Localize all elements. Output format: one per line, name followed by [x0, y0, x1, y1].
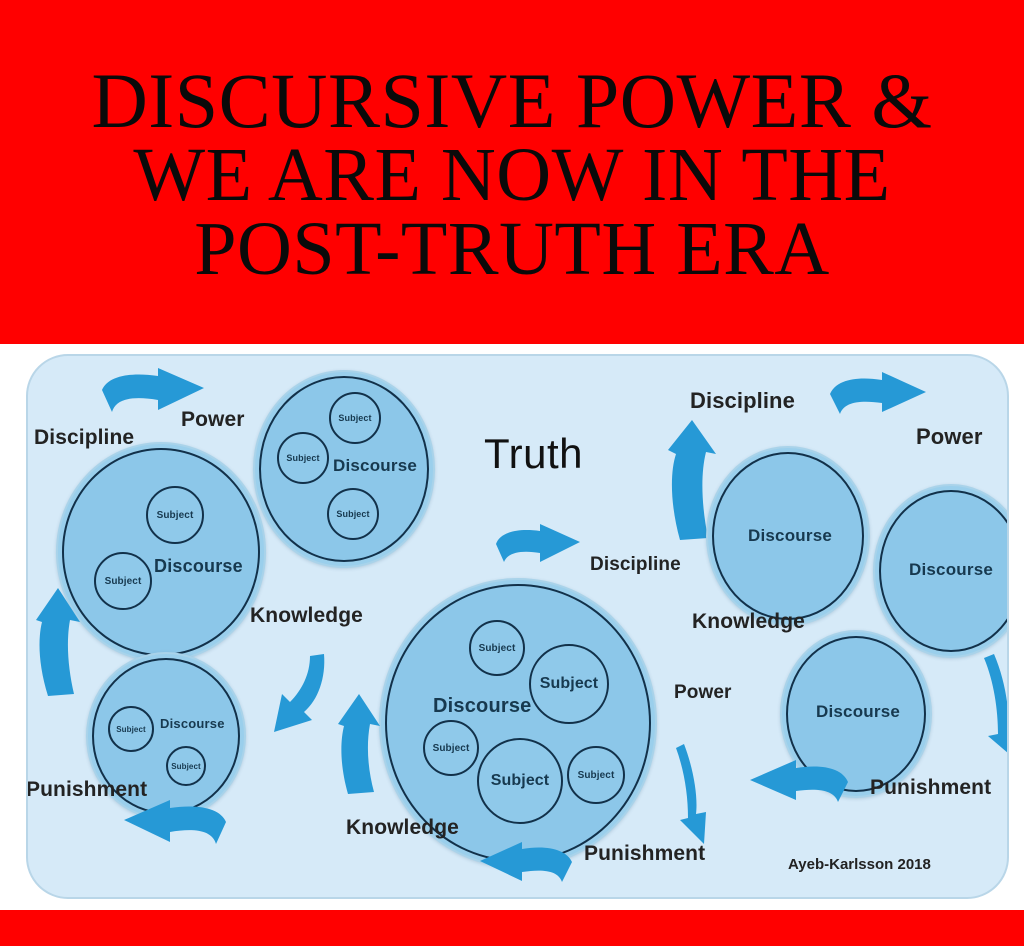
node-left-lower-label: Discourse [160, 716, 225, 731]
subject-label: Subject [336, 509, 369, 519]
subject-circle: Subject [567, 746, 625, 804]
node-right-upper-right: Discourse [873, 484, 1009, 658]
foucault-discourse-diagram: Discipline Power Discourse Subject Subje… [26, 354, 1009, 899]
subject-label: Subject [491, 772, 550, 790]
left-cycle-punishment-label: Punishment [26, 778, 147, 802]
right-cycle-punishment-label: Punishment [870, 776, 991, 800]
subject-circle: Subject [529, 644, 609, 724]
subject-label: Subject [540, 675, 599, 693]
node-right-upper-left: Discourse [706, 446, 870, 626]
node-left-upper: Discourse Subject Subject [56, 442, 266, 662]
left-cycle-power-label: Power [181, 408, 245, 432]
center-right-arrow-icon [668, 742, 722, 846]
subject-circle: Subject [329, 392, 381, 444]
right-cycle-discipline-label: Discipline [690, 388, 795, 414]
subject-circle: Subject [423, 720, 479, 776]
subject-label: Subject [171, 762, 201, 771]
right-bottom-arrow-icon [742, 760, 852, 810]
right-cycle-power-label: Power [916, 424, 983, 450]
left-inner-arrow-icon [266, 652, 330, 740]
subject-circle: Subject [94, 552, 152, 610]
subject-label: Subject [286, 453, 319, 463]
node-center-main-label: Discourse [433, 695, 532, 718]
center-cycle-discipline-label: Discipline [590, 554, 681, 576]
node-left-upper-inner [62, 448, 260, 656]
subject-label: Subject [433, 743, 470, 754]
poster-root: DISCURSIVE POWER & WE ARE NOW IN THE POS… [0, 0, 1024, 946]
right-cycle-knowledge-label: Knowledge [692, 610, 805, 634]
node-right-upper-left-label: Discourse [748, 526, 832, 546]
title-line-2: WE ARE NOW IN THE [133, 139, 890, 213]
title-banner: DISCURSIVE POWER & WE ARE NOW IN THE POS… [0, 0, 1024, 344]
subject-circle: Subject [477, 738, 563, 824]
node-right-lower-label: Discourse [816, 702, 900, 722]
subject-label: Subject [157, 510, 194, 521]
center-cycle-knowledge-label: Knowledge [346, 816, 459, 840]
subject-circle: Subject [469, 620, 525, 676]
figure-area: Discipline Power Discourse Subject Subje… [0, 344, 1024, 910]
right-top-arrow-icon [828, 372, 932, 422]
title-line-3: POST-TRUTH ERA [194, 213, 829, 287]
subject-circle: Subject [327, 488, 379, 540]
subject-label: Subject [116, 725, 146, 734]
subject-circle: Subject [166, 746, 206, 786]
subject-circle: Subject [146, 486, 204, 544]
left-bottom-arrow-icon [118, 800, 228, 852]
left-cycle-discipline-label: Discipline [34, 426, 134, 450]
title-line-1: DISCURSIVE POWER & [91, 63, 932, 139]
subject-label: Subject [479, 643, 516, 654]
center-bottom-arrow-icon [474, 842, 574, 890]
right-side-arrow-icon [978, 652, 1009, 762]
subject-label: Subject [338, 413, 371, 423]
credit-label: Ayeb-Karlsson 2018 [788, 856, 931, 873]
subject-label: Subject [578, 770, 615, 781]
center-left-arrow-icon [338, 692, 384, 796]
left-cycle-knowledge-label: Knowledge [250, 604, 363, 628]
center-cycle-power-label: Power [674, 682, 732, 704]
left-side-arrow-icon [36, 586, 84, 698]
subject-circle: Subject [277, 432, 329, 484]
center-cycle-punishment-label: Punishment [584, 842, 705, 866]
node-left-top-middle-label: Discourse [333, 456, 417, 476]
subject-label: Subject [105, 576, 142, 587]
center-top-arrow-icon [494, 524, 584, 568]
subject-circle: Subject [108, 706, 154, 752]
truth-label: Truth [484, 430, 583, 478]
node-right-upper-right-label: Discourse [909, 560, 993, 580]
node-left-upper-label: Discourse [154, 556, 243, 577]
node-left-top-middle: Discourse Subject Subject Subject [253, 370, 435, 568]
